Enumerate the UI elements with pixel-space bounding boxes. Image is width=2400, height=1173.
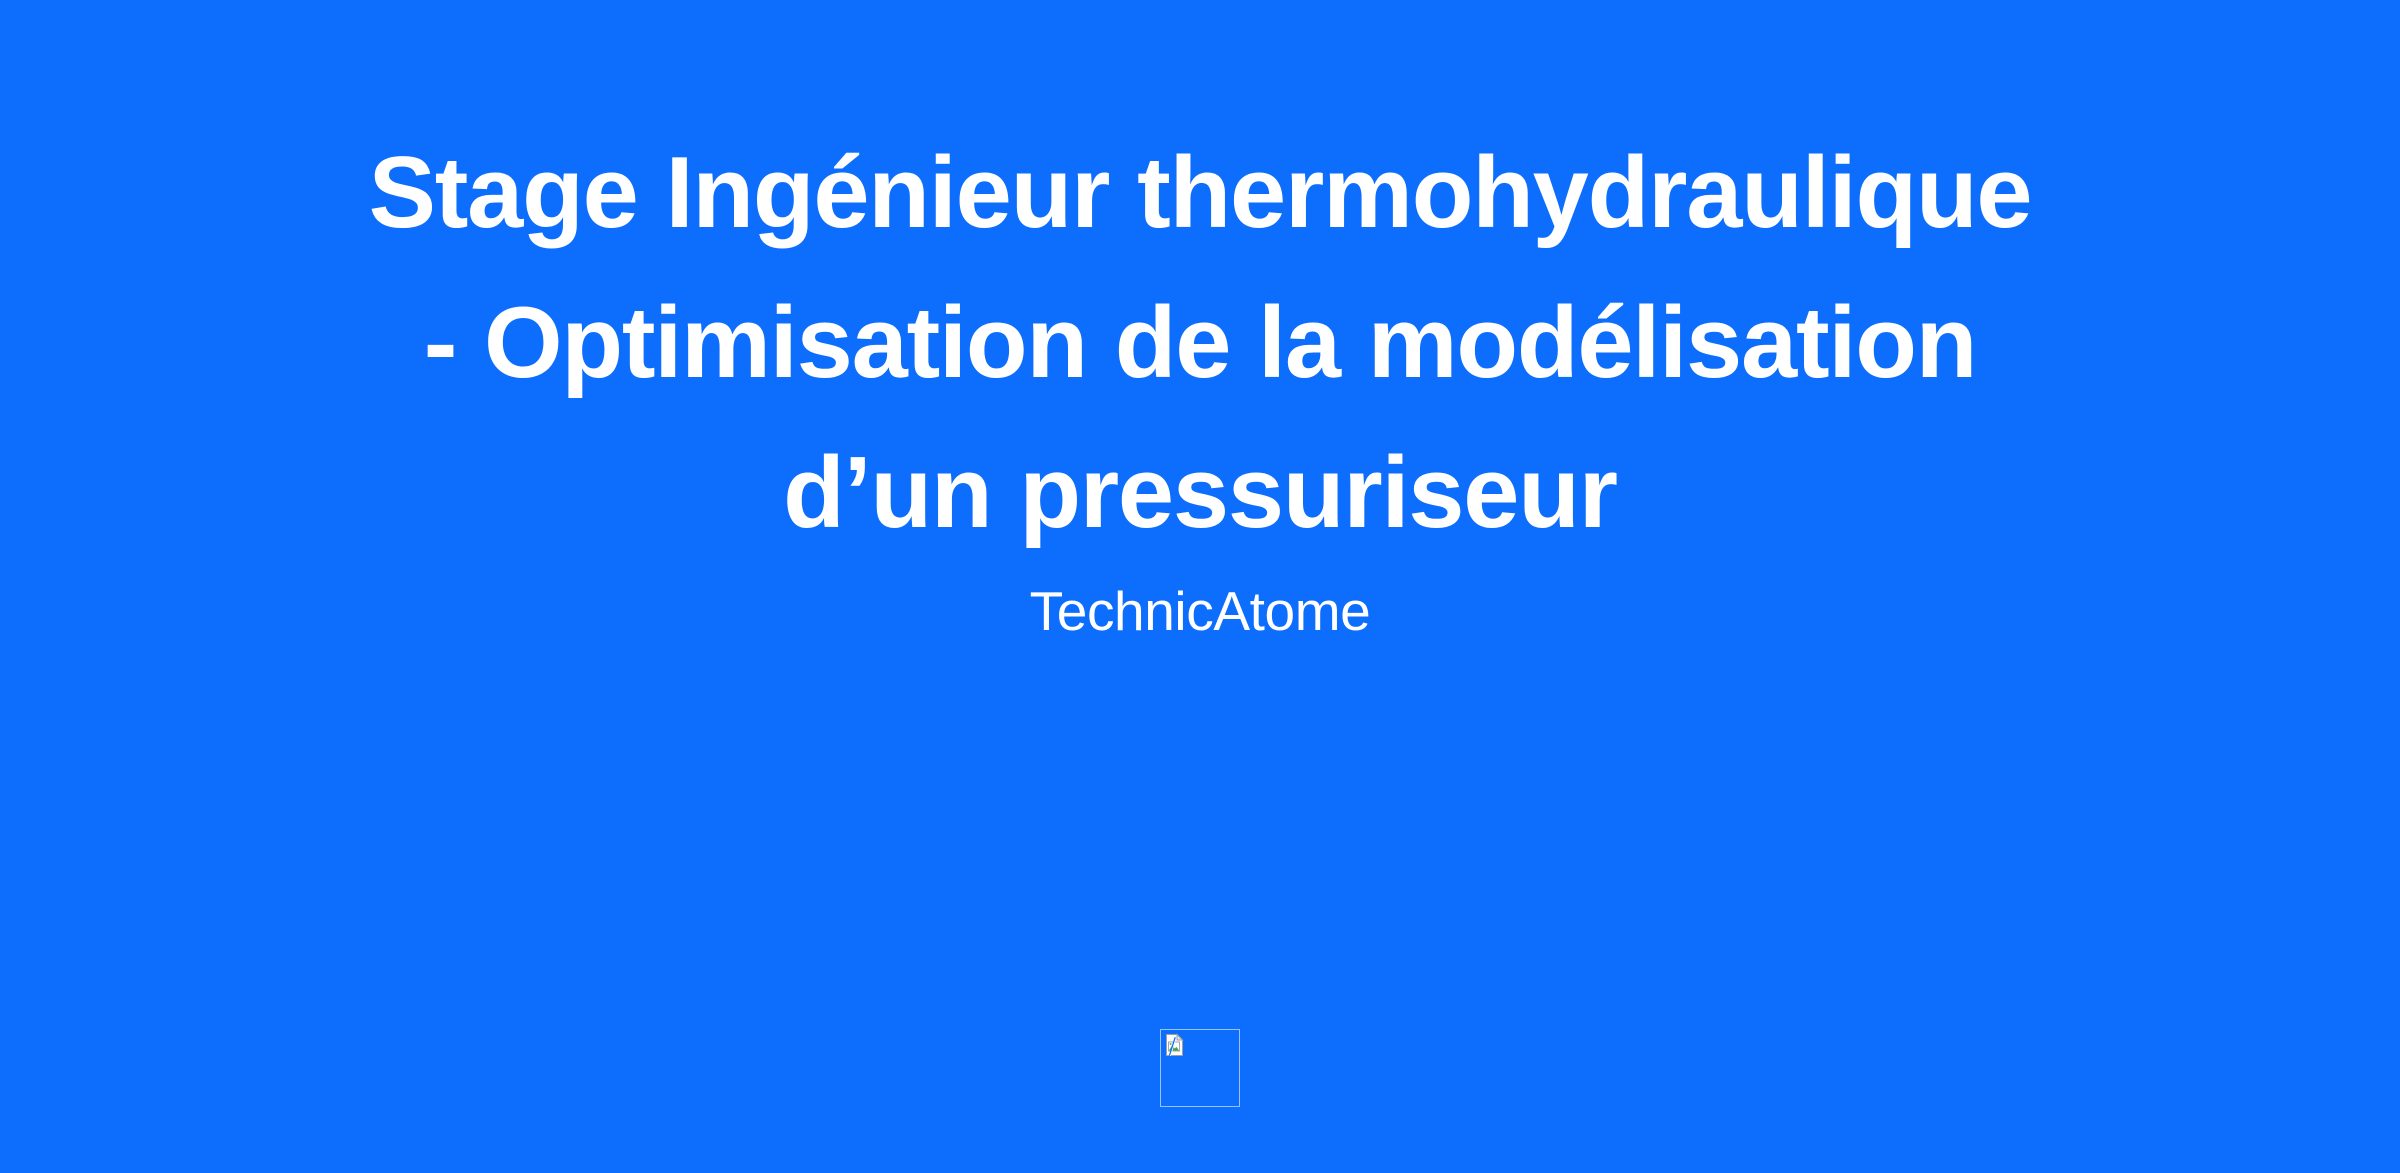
broken-image-icon — [1164, 1033, 1188, 1057]
page-subtitle: TechnicAtome — [1030, 568, 1371, 650]
media-row — [0, 1029, 2400, 1107]
broken-image-placeholder[interactable] — [1160, 1029, 1240, 1107]
broken-image-alt-text — [1160, 1029, 1161, 1030]
slide-root: Stage Ingénieur thermohydraulique - Opti… — [0, 0, 2400, 1173]
page-title: Stage Ingénieur thermohydraulique - Opti… — [350, 118, 2050, 568]
hero-section: Stage Ingénieur thermohydraulique - Opti… — [0, 0, 2400, 650]
